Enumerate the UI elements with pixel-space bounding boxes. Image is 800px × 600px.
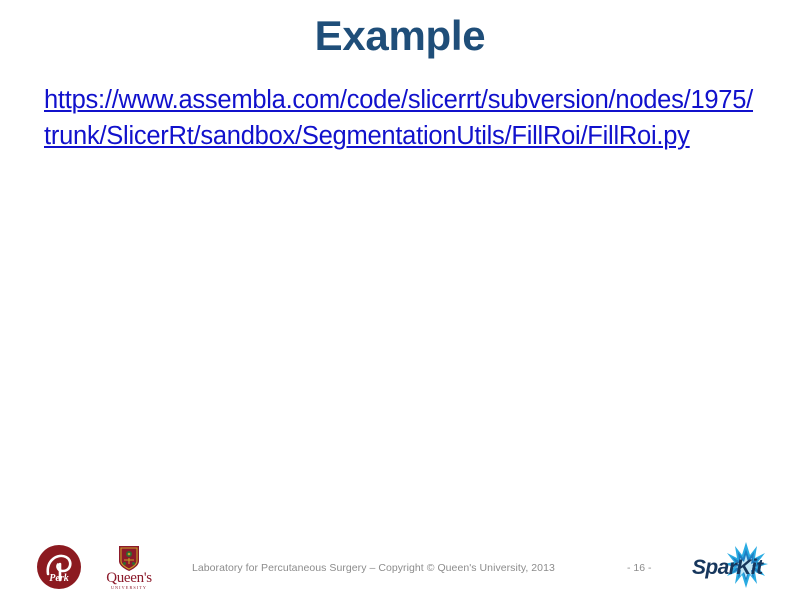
queens-university-logo: Queen's UNIVERSITY [96,545,162,593]
footer-copyright: Laboratory for Percutaneous Surgery – Co… [192,562,555,574]
page-title: Example [0,12,800,59]
sparkit-wordmark-spar: Spar [692,556,736,579]
queens-wordmark: Queen's [96,571,162,585]
page-number: - 16 - [627,562,652,574]
assembla-source-link[interactable]: https://www.assembla.com/code/slicerrt/s… [44,86,753,150]
sparkit-logo: SparKit [690,540,788,594]
sparkit-wordmark-kit: Kit [736,556,762,579]
queens-crest-icon [117,545,141,572]
perk-logo: Perk [36,544,82,590]
svg-text:Perk: Perk [49,573,68,584]
slide-body: https://www.assembla.com/code/slicerrt/s… [44,82,756,154]
sparkit-wordmark: SparKit [692,556,763,580]
slide-canvas: Example https://www.assembla.com/code/sl… [0,0,800,600]
perk-logo-icon: Perk [36,544,82,590]
